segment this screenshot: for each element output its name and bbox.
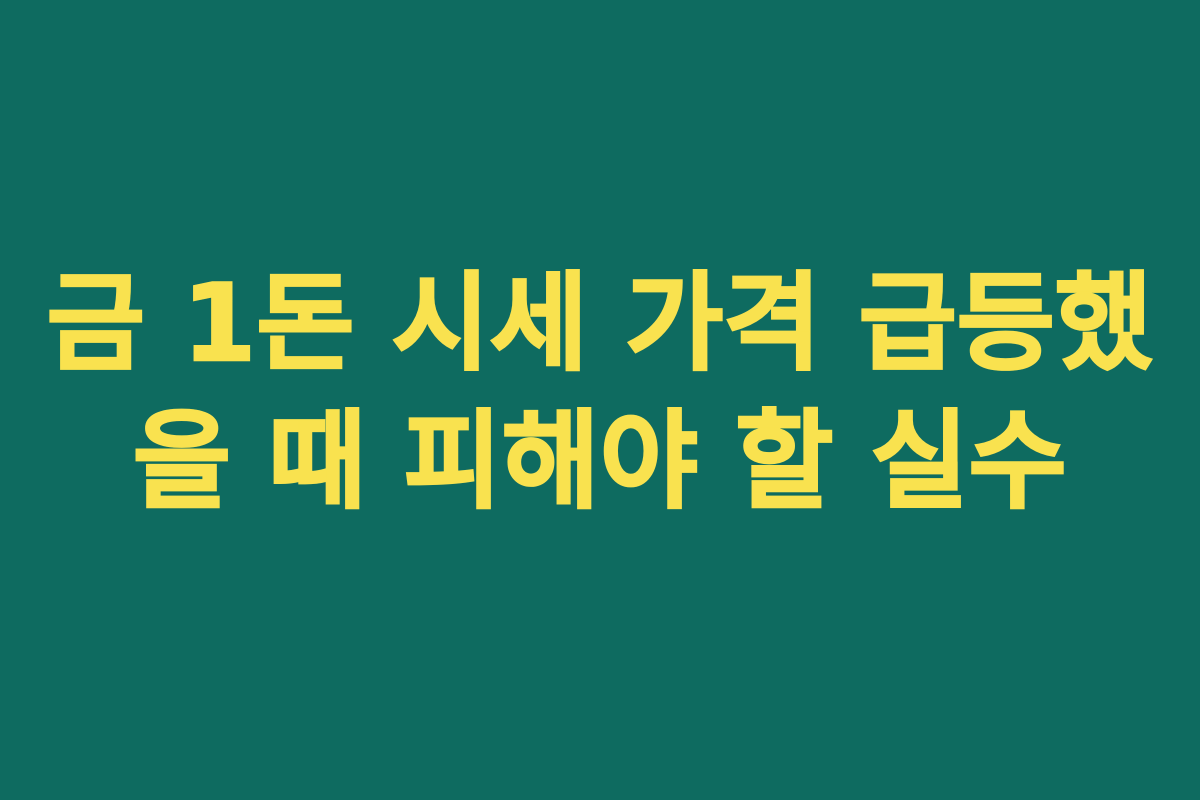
headline-line-1: 금 1돈 시세 가격 급등했: [40, 255, 1160, 393]
headline-line-2: 을 때 피해야 할 실수: [40, 393, 1160, 531]
headline-block: 금 1돈 시세 가격 급등했 을 때 피해야 할 실수: [0, 255, 1200, 531]
thumbnail-canvas: 금 1돈 시세 가격 급등했 을 때 피해야 할 실수: [0, 0, 1200, 800]
